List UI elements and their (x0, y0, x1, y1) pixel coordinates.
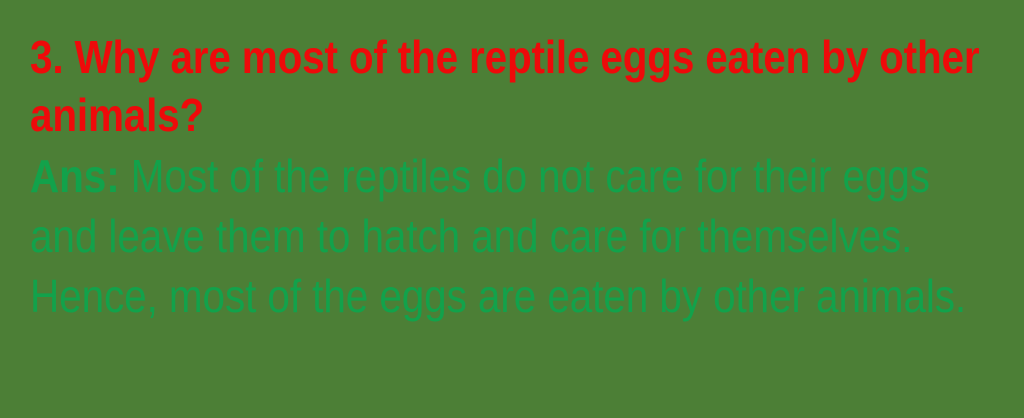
answer-label: Ans: (30, 150, 120, 202)
answer-text: Ans: Most of the reptiles do not care fo… (30, 146, 991, 326)
question-answer-card: 3. Why are most of the reptile eggs eate… (0, 0, 1024, 418)
question-text: 3. Why are most of the reptile eggs eate… (30, 28, 991, 144)
answer-body-text: Most of the reptiles do not care for the… (30, 150, 966, 322)
